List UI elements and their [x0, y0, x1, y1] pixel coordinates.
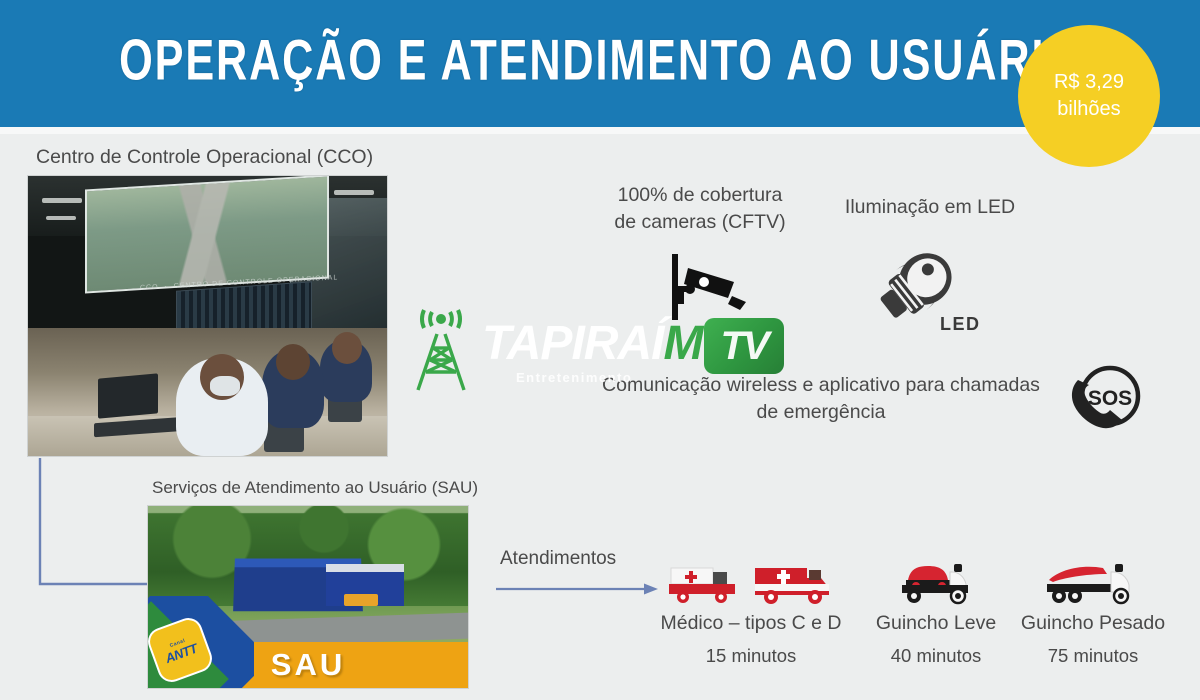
- cco-operator-1: [176, 358, 268, 456]
- ceiling-light-3: [334, 190, 374, 195]
- atendimentos-arrow: [496, 582, 660, 596]
- slide-root: OPERAÇÃO E ATENDIMENTO AO USUÁRIO R$ 3,2…: [0, 0, 1200, 700]
- cftv-feature-text: 100% de cobertura de cameras (CFTV): [600, 182, 800, 236]
- service-medico-time: 15 minutos: [646, 645, 856, 667]
- wireless-line-2: de emergência: [576, 399, 1066, 426]
- antt-logo-corner: Canal ANTT: [148, 596, 254, 688]
- service-guincho-leve: Guincho Leve 40 minutos: [862, 548, 1010, 667]
- cco-operator-monitor: [98, 373, 158, 418]
- cco-video-wall-footage: [87, 177, 327, 292]
- ceiling-light-1: [42, 198, 82, 203]
- service-medico: Médico – tipos C e D 15 minutos: [646, 548, 856, 667]
- broadcast-tower-icon: [406, 304, 482, 392]
- led-feature-text: Iluminação em LED: [820, 194, 1040, 221]
- wireless-feature-text: Comunicação wireless e aplicativo para c…: [576, 372, 1066, 427]
- page-title: OPERAÇÃO E ATENDIMENTO AO USUÁRIO: [48, 26, 1152, 93]
- service-medico-title: Médico – tipos C e D: [646, 612, 856, 635]
- service-guincho-pesado-title: Guincho Pesado: [1014, 612, 1172, 635]
- watermark-tv-text: TV: [720, 324, 767, 369]
- ambulance-icon: [751, 560, 837, 606]
- service-guincho-leve-title: Guincho Leve: [862, 612, 1010, 635]
- wireless-line-1: Comunicação wireless e aplicativo para c…: [576, 372, 1066, 399]
- cost-badge-unit: bilhões: [1057, 96, 1120, 123]
- service-guincho-leve-time: 40 minutos: [862, 645, 1010, 667]
- sau-facility-photo: SAU Canal ANTT: [148, 506, 468, 688]
- sos-phone-icon: SOS: [1058, 358, 1148, 440]
- ambulance-icon: [665, 562, 741, 606]
- sau-service-vehicle: [344, 594, 378, 606]
- cctv-camera-icon: [668, 252, 754, 330]
- light-tow-truck-icon: [888, 558, 984, 606]
- watermark-name-part1: TAPIRAÍ: [482, 317, 663, 370]
- sau-label: Serviços de Atendimento ao Usuário (SAU): [152, 478, 478, 498]
- led-line-1: Iluminação em LED: [820, 194, 1040, 221]
- service-guincho-pesado-icons: [1014, 548, 1172, 606]
- svg-text:SOS: SOS: [1088, 387, 1132, 410]
- service-guincho-pesado-time: 75 minutos: [1014, 645, 1172, 667]
- service-guincho-leve-icons: [862, 548, 1010, 606]
- cco-operator-2: [262, 350, 324, 428]
- service-guincho-pesado: Guincho Pesado 75 minutos: [1014, 548, 1172, 667]
- atendimentos-label: Atendimentos: [500, 548, 616, 570]
- service-medico-icons: [646, 548, 856, 606]
- led-lamp-icon: LED: [866, 250, 980, 338]
- svg-text:LED: LED: [940, 314, 980, 334]
- cco-control-room-photo: CCO · CENTRO DE CONTROLE OPERACIONAL: [28, 176, 387, 456]
- ceiling-light-2: [46, 216, 76, 220]
- sau-banner-label: SAU: [271, 647, 345, 683]
- cco-label: Centro de Controle Operacional (CCO): [36, 146, 373, 169]
- cost-badge-amount: R$ 3,29: [1054, 69, 1124, 96]
- header-underline: [0, 127, 1200, 134]
- cost-badge: R$ 3,29 bilhões: [1018, 25, 1160, 167]
- cftv-line-2: de cameras (CFTV): [600, 209, 800, 236]
- cco-operator-3: [320, 340, 372, 402]
- heavy-tow-truck-icon: [1041, 558, 1145, 606]
- cftv-line-1: 100% de cobertura: [600, 182, 800, 209]
